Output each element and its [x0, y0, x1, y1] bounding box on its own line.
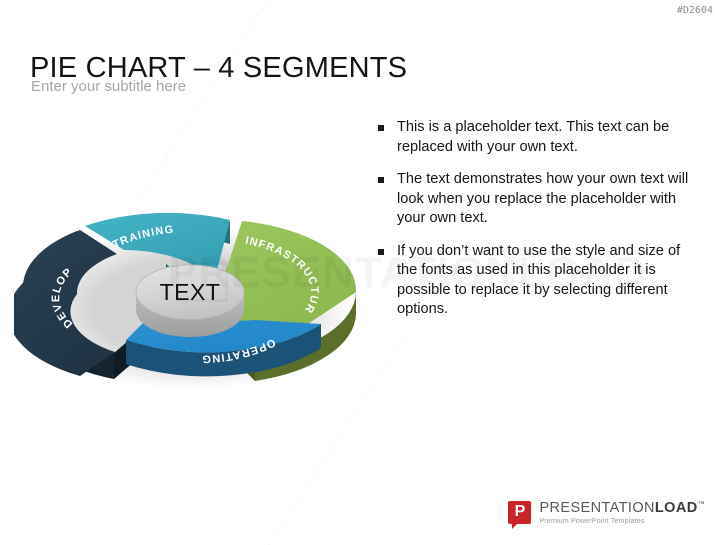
trademark-symbol: ™ — [698, 501, 705, 508]
list-item-text: If you don’t want to use the style and s… — [397, 242, 698, 320]
list-item-text: The text demonstrates how your own text … — [397, 170, 698, 229]
logo-word-presentation: PRESENTATION — [539, 500, 654, 516]
list-item[interactable]: This is a placeholder text. This text ca… — [378, 118, 698, 157]
pie-chart-graphic[interactable]: DEVELOPMENT TRAINING INFRASTRUCTURE — [14, 158, 364, 398]
page-subtitle[interactable]: Enter your subtitle here — [31, 78, 186, 95]
list-item-text: This is a placeholder text. This text ca… — [397, 118, 698, 157]
hub-label: TEXT — [160, 279, 221, 305]
logo-text-block: PRESENTATIONLOAD™ Premium PowerPoint Tem… — [539, 501, 705, 526]
body-bullet-list: This is a placeholder text. This text ca… — [378, 118, 698, 333]
speech-bubble-icon: P — [508, 501, 531, 524]
bullet-square-icon — [378, 177, 384, 183]
pie-center-hub[interactable]: TEXT — [136, 265, 244, 337]
document-code: #D2604 — [677, 5, 713, 16]
logo-tagline: Premium PowerPoint Templates — [539, 518, 705, 525]
slide-canvas: #D2604 PIE CHART – 4 SEGMENTS Enter your… — [0, 0, 727, 545]
presentationload-logo[interactable]: P PRESENTATIONLOAD™ Premium PowerPoint T… — [508, 501, 705, 526]
bullet-square-icon — [378, 125, 384, 131]
bullet-square-icon — [378, 249, 384, 255]
list-item[interactable]: The text demonstrates how your own text … — [378, 170, 698, 229]
list-item[interactable]: If you don’t want to use the style and s… — [378, 242, 698, 320]
logo-word-load: LOAD — [655, 500, 698, 516]
logo-wordmark: PRESENTATIONLOAD™ — [539, 501, 705, 516]
logo-mark-letter: P — [508, 501, 531, 524]
